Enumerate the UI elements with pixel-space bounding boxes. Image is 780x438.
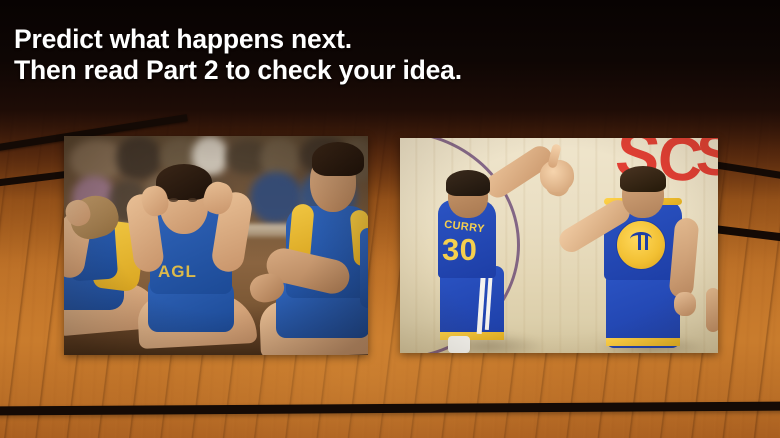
- photo-vignette: [400, 138, 718, 353]
- dejected-bench-players-photo: AGL: [64, 136, 368, 355]
- slide-title: Predict what happens next. Then read Par…: [14, 24, 654, 86]
- title-line-2: Then read Part 2 to check your idea.: [14, 55, 654, 86]
- title-line-1: Predict what happens next.: [14, 24, 654, 55]
- slide-canvas: Predict what happens next. Then read Par…: [0, 0, 780, 438]
- warriors-high-five-photo: S C S CURRY 30: [400, 138, 718, 353]
- photo-vignette: [64, 136, 368, 355]
